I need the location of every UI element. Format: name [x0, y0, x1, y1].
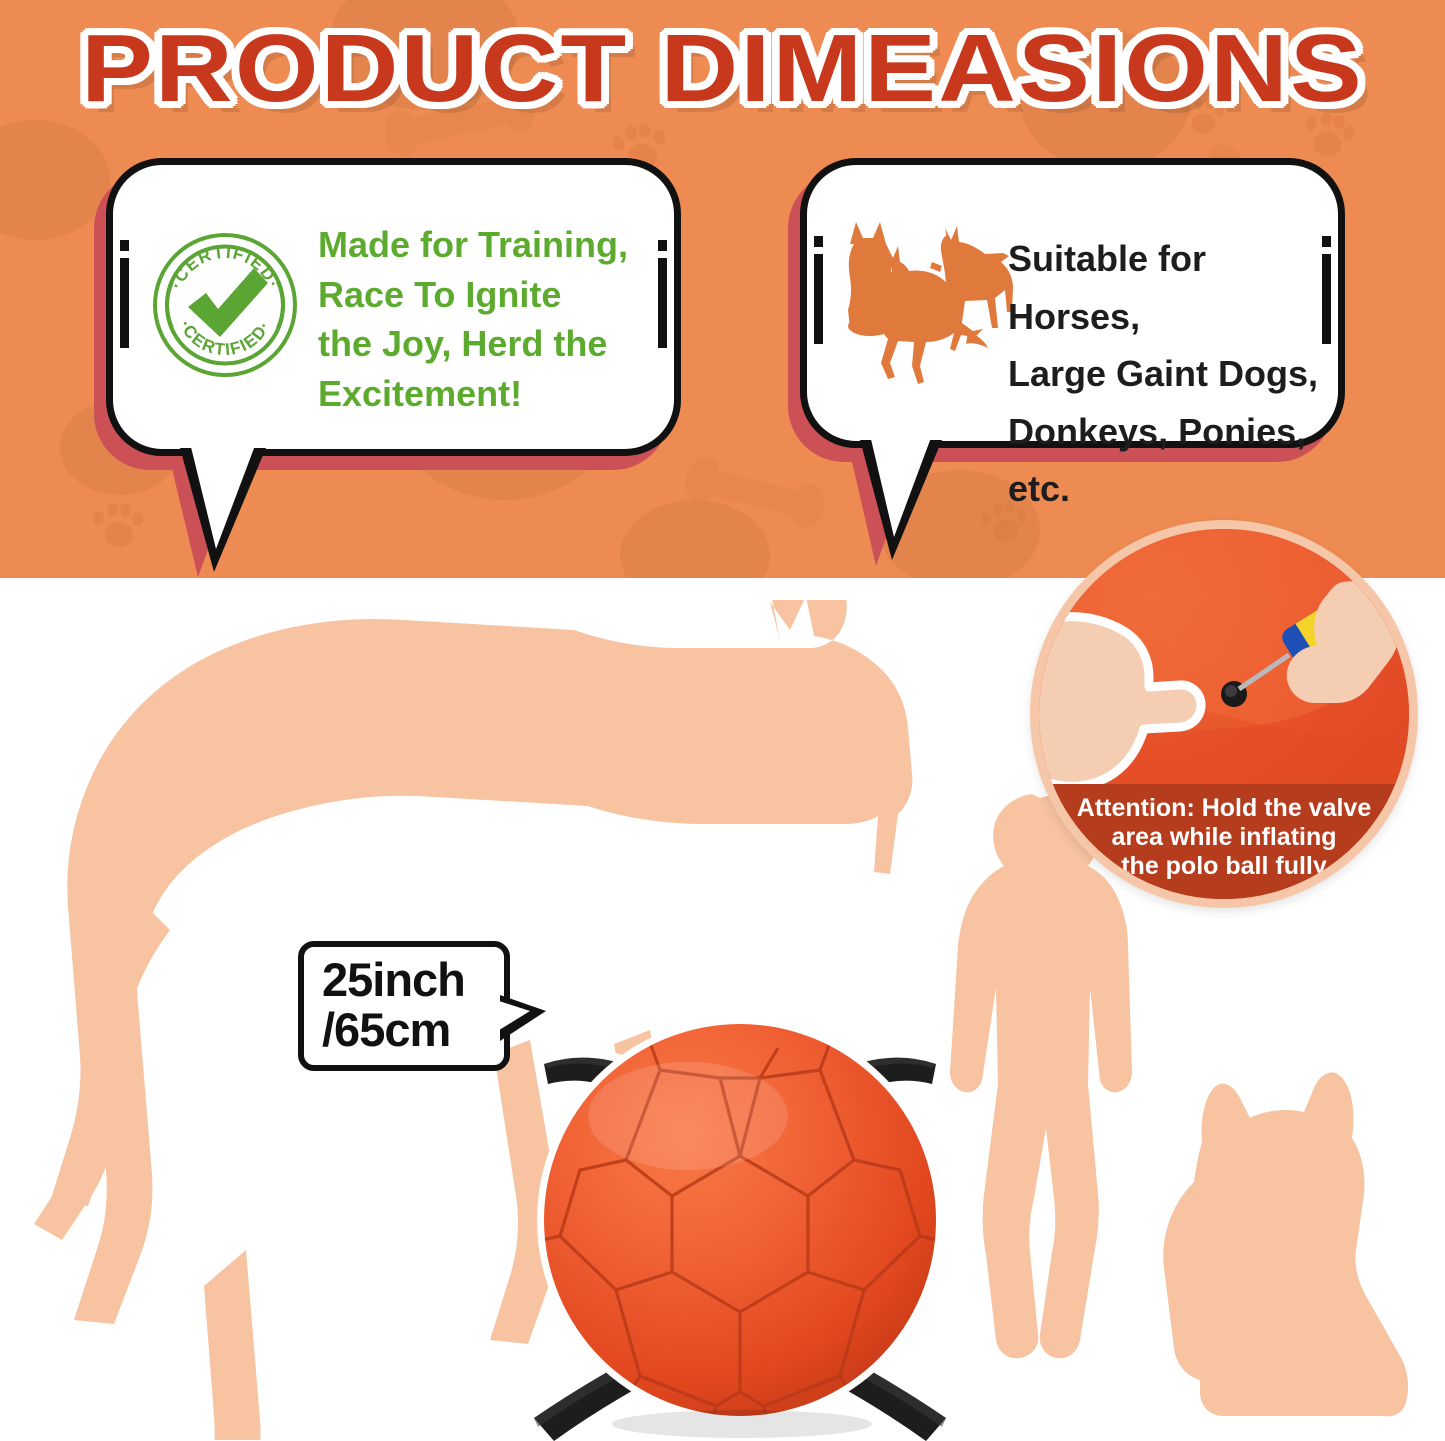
training-speech-bubble: ·CERTIFIED· ·CERTIFIED· Made for Trainin… — [106, 158, 681, 456]
bubble-line: Donkeys, Ponies, etc. — [1008, 403, 1338, 518]
caption-line: the polo ball fully — [1053, 852, 1395, 881]
bracket-left-icon — [120, 240, 129, 348]
inset-caption: Attention: Hold the valve area while inf… — [1039, 784, 1409, 899]
bubble-line: Race To Ignite — [318, 270, 658, 320]
suitable-speech-bubble: Suitable for Horses, Large Gaint Dogs, D… — [800, 158, 1345, 448]
horse-donkey-dog-silhouettes-icon — [820, 214, 1020, 414]
bubble-tail — [870, 435, 932, 537]
bubble-line: Excitement! — [318, 369, 658, 419]
product-dimensions-infographic: PRODUCT DIMEASIONS ·CERTIFIE — [0, 0, 1445, 1441]
page-title: PRODUCT DIMEASIONS — [0, 14, 1445, 124]
polo-ball — [520, 1020, 960, 1441]
bubble-line: the Joy, Herd the — [318, 319, 658, 369]
size-callout: 25inch /65cm — [298, 941, 510, 1071]
bubble-line: Made for Training, — [318, 220, 658, 270]
bubble-line: Suitable for Horses, — [1008, 230, 1338, 345]
inflation-attention-inset: JJ Attention: Hold the valve area while … — [1030, 520, 1418, 908]
suitable-bubble-text: Suitable for Horses, Large Gaint Dogs, D… — [1008, 230, 1338, 518]
training-bubble-text: Made for Training, Race To Ignite the Jo… — [318, 220, 658, 419]
caption-line: Attention: Hold the valve — [1053, 794, 1395, 823]
certified-check-stamp-icon: ·CERTIFIED· ·CERTIFIED· — [150, 230, 300, 380]
bg-blob — [620, 500, 770, 578]
dog-silhouette — [1130, 1070, 1430, 1440]
caption-line: area while inflating — [1053, 823, 1395, 852]
bubble-line: Large Gaint Dogs, — [1008, 345, 1338, 403]
size-callout-line1: 25inch — [322, 955, 486, 1005]
bubble-tail — [190, 443, 256, 549]
bracket-right-icon — [658, 240, 667, 348]
paw-print-icon — [90, 500, 146, 556]
size-callout-line2: /65cm — [322, 1005, 486, 1055]
